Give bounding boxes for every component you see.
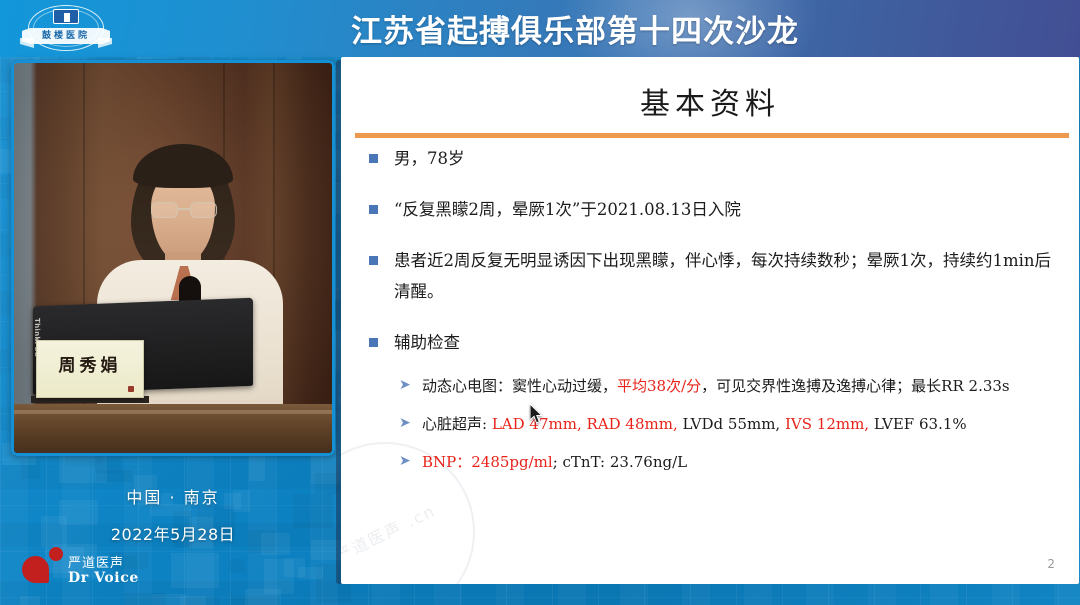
bullet-item: “反复黑矇2周，晕厥1次”于2021.08.13日入院 bbox=[359, 194, 1061, 225]
mosaic-tile bbox=[284, 558, 305, 577]
venue-date: 2022年5月28日 bbox=[11, 521, 335, 545]
mosaic-tile bbox=[124, 593, 166, 605]
bullet-item: 男，78岁 bbox=[359, 143, 1061, 174]
text-segment: 动态心电图：窦性心动过缓， bbox=[422, 377, 617, 395]
text-segment: 平均38次/分 bbox=[617, 377, 701, 395]
slide-panel: 严道医声 .cn 基本资料 男，78岁 “反复黑矇2周，晕厥1次”于2021.0… bbox=[341, 57, 1079, 584]
sub-bullet-item: ➤ 心脏超声: LAD 47mm, RAD 48mm, LVDd 55mm, I… bbox=[359, 410, 1061, 438]
title-underline bbox=[355, 133, 1069, 138]
mosaic-tile bbox=[229, 559, 246, 573]
glasses-icon bbox=[151, 202, 217, 218]
emblem-banner: 鼓楼医院 bbox=[22, 28, 110, 44]
bullet-item: 患者近2周反复无明显诱因下出现黑矇，伴心悸，每次持续数秒；晕厥1次，持续约1mi… bbox=[359, 245, 1061, 307]
speaker-name-card: 周秀娟 bbox=[36, 340, 144, 398]
bullet-square-icon bbox=[369, 256, 378, 265]
venue-info: 中国 · 南京 2022年5月28日 bbox=[11, 484, 335, 545]
speaker-name: 周秀娟 bbox=[37, 351, 143, 376]
bullet-text: 男，78岁 bbox=[394, 143, 1061, 174]
hospital-logo: 鼓楼医院 bbox=[20, 4, 112, 54]
sub-bullet-text: BNP：2485pg/ml; cTnT: 23.76ng/L bbox=[422, 448, 1061, 476]
bullet-square-icon bbox=[369, 338, 378, 347]
sub-bullet-text: 动态心电图：窦性心动过缓，平均38次/分，可见交界性逸搏及逸搏心律；最长RR 2… bbox=[422, 372, 1061, 400]
bullet-text: 患者近2周反复无明显诱因下出现黑矇，伴心悸，每次持续数秒；晕厥1次，持续约1mi… bbox=[394, 245, 1061, 307]
mosaic-tile bbox=[231, 596, 280, 605]
bullet-square-icon bbox=[369, 154, 378, 163]
event-header-bar: 江苏省起搏俱乐部第十四次沙龙 bbox=[0, 0, 1080, 57]
text-segment: BNP：2485pg/ml bbox=[422, 453, 553, 471]
name-card-seal-icon bbox=[128, 386, 134, 392]
mosaic-tile bbox=[95, 458, 121, 473]
text-segment: ，可见交界性逸搏及逸搏心律；最长RR 2.33s bbox=[701, 377, 1009, 395]
sub-bullet-item: ➤ BNP：2485pg/ml; cTnT: 23.76ng/L bbox=[359, 448, 1061, 476]
logo-text-cn: 严道医声 bbox=[68, 552, 124, 571]
sub-bullet-item: ➤ 动态心电图：窦性心动过缓，平均38次/分，可见交界性逸搏及逸搏心律；最长RR… bbox=[359, 372, 1061, 400]
glasses-lens-left bbox=[151, 202, 178, 218]
emblem-banner-text: 鼓楼医院 bbox=[22, 28, 110, 44]
podium bbox=[11, 404, 335, 456]
logo-blob-icon bbox=[22, 556, 49, 583]
mosaic-tile bbox=[20, 596, 40, 605]
event-title: 江苏省起搏俱乐部第十四次沙龙 bbox=[0, 0, 1080, 57]
slide-page-number: 2 bbox=[1047, 557, 1055, 571]
logo-dot-icon bbox=[49, 547, 63, 561]
venue-city: 中国 · 南京 bbox=[11, 484, 335, 508]
glasses-lens-right bbox=[190, 202, 217, 218]
text-segment: LAD 47mm, RAD 48mm, bbox=[492, 415, 683, 433]
text-segment: IVS 12mm, bbox=[785, 415, 874, 433]
text-segment: ; cTnT: 23.76ng/L bbox=[553, 453, 687, 471]
presentation-screen: 江苏省起搏俱乐部第十四次沙龙 鼓楼医院 ThinkPad bbox=[0, 0, 1080, 605]
text-segment: LVDd 55mm, bbox=[682, 415, 784, 433]
dr-voice-logo: 严道医声 Dr Voice bbox=[22, 546, 162, 592]
mosaic-tile bbox=[171, 553, 219, 588]
sub-bullet-text: 心脏超声: LAD 47mm, RAD 48mm, LVDd 55mm, IVS… bbox=[422, 410, 1061, 438]
bullet-square-icon bbox=[369, 205, 378, 214]
chevron-right-icon: ➤ bbox=[399, 416, 412, 430]
speaker-video-feed[interactable]: ThinkPad 周秀娟 bbox=[11, 60, 335, 456]
chevron-right-icon: ➤ bbox=[399, 454, 412, 468]
slide-title: 基本资料 bbox=[341, 79, 1079, 123]
mosaic-tile bbox=[180, 596, 206, 605]
logo-text-en: Dr Voice bbox=[68, 570, 139, 586]
glasses-bridge bbox=[178, 208, 190, 210]
text-segment: LVEF 63.1% bbox=[874, 415, 967, 433]
text-segment: 心脏超声: bbox=[422, 415, 492, 433]
bullet-text: 辅助检查 bbox=[394, 327, 1061, 358]
bullet-item: 辅助检查 bbox=[359, 327, 1061, 358]
emblem-cross-icon bbox=[53, 9, 79, 24]
chevron-right-icon: ➤ bbox=[399, 378, 412, 392]
bullet-text: “反复黑矇2周，晕厥1次”于2021.08.13日入院 bbox=[394, 194, 1061, 225]
slide-content: 男，78岁 “反复黑矇2周，晕厥1次”于2021.08.13日入院 患者近2周反… bbox=[359, 143, 1061, 486]
